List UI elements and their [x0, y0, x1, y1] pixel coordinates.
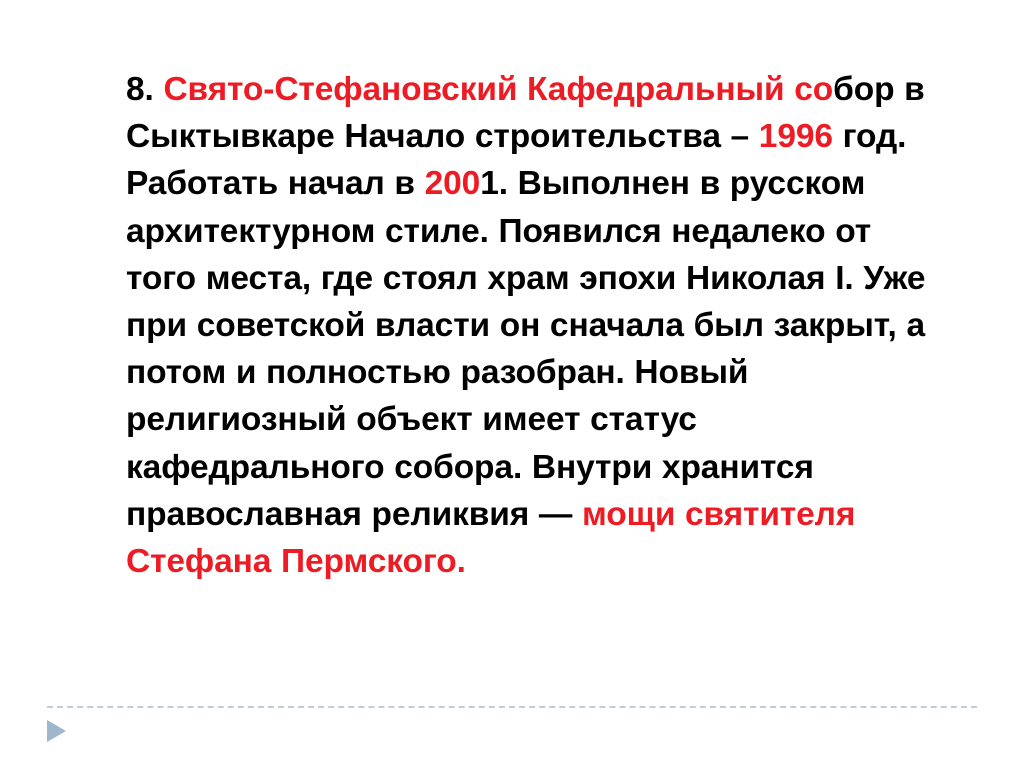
text-run-6: 1. Выполнен в русском архитектурном стил… — [126, 165, 925, 532]
text-run-1: Свято-Стефановский Кафедральный со — [163, 71, 833, 108]
text-run-5: 200 — [425, 165, 481, 202]
text-run-3: 1996 — [759, 118, 833, 155]
next-slide-button[interactable] — [44, 718, 70, 744]
footer-divider — [47, 706, 977, 708]
slide-text-block: 8. Свято-Стефановский Кафедральный собор… — [126, 66, 948, 585]
text-run-0: 8. — [126, 71, 163, 108]
slide-canvas: 8. Свято-Стефановский Кафедральный собор… — [0, 0, 1024, 767]
slide-footer — [0, 698, 1024, 767]
play-triangle-icon — [44, 718, 70, 744]
slide-paragraph: 8. Свято-Стефановский Кафедральный собор… — [126, 66, 948, 585]
